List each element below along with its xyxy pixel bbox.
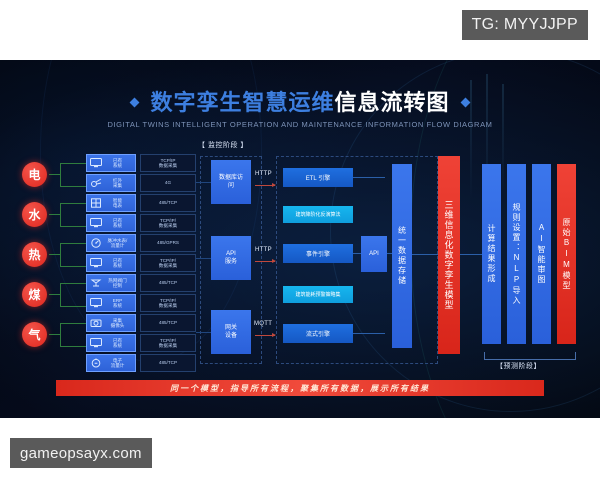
protocol-box: 485/TCP (140, 194, 196, 212)
engine-block-etl[interactable]: ETL 引擎 (283, 168, 353, 187)
output-block-rule-nlp[interactable]: 规则设置：NLP导入 (507, 164, 526, 344)
protocol-box: TCP/IP/数据采集 (140, 214, 196, 232)
connector-line (353, 253, 361, 254)
gauge-icon (89, 238, 102, 249)
title-secondary: 信息流转图 (335, 90, 450, 115)
connector-green (60, 283, 61, 307)
stage-label-monitor: 【 监控阶段 】 (198, 140, 248, 150)
page-subtitle: DIGITAL TWINS INTELLIGENT OPERATION AND … (0, 120, 600, 129)
device-label: 电子流量计 (102, 358, 133, 369)
engine-block-energy-policy[interactable]: 建筑能耗预警策略集 (283, 286, 353, 303)
engine-block-event[interactable]: 事件引擎 (283, 244, 353, 263)
diamond-icon (460, 98, 470, 108)
title-primary: 数字孪生智慧运维 (150, 90, 334, 115)
arrow-right (255, 185, 275, 186)
device-label: ERP系统 (102, 298, 133, 309)
poster-title-block: 数字孪生智慧运维信息流转图 DIGITAL TWINS INTELLIGENT … (0, 90, 600, 129)
connector-green (60, 323, 86, 324)
bottom-banner: 同一个模型，指导所有流程，聚集所有数据，展示所有结果 (56, 380, 544, 396)
device-label: 已有系统 (102, 338, 133, 349)
watermark-bottom: gameopsayx.com (10, 438, 152, 468)
camera-icon (89, 318, 102, 329)
device-box[interactable]: ERP系统 (86, 294, 136, 312)
api-block[interactable]: API (361, 236, 387, 272)
connector-green (60, 306, 86, 307)
connector-green (60, 243, 61, 267)
monitor-icon (89, 338, 102, 349)
monitor-icon (89, 298, 102, 309)
page-title: 数字孪生智慧运维信息流转图 (0, 90, 600, 116)
protocol-box: 485/GPRS (140, 234, 196, 252)
connector-green (60, 346, 86, 347)
infrared-icon (89, 178, 102, 189)
connector-green (60, 323, 61, 347)
protocol-box: TCP/IP/数据采集 (140, 254, 196, 272)
connector-green (60, 203, 61, 227)
connector-line (460, 254, 482, 255)
transport-label-http-1: HTTP (255, 171, 272, 177)
connector-line (412, 254, 438, 255)
arrow-right (255, 261, 275, 262)
arrow-right (255, 335, 275, 336)
connector-green (60, 226, 86, 227)
access-block-gateway[interactable]: 网关设备 (211, 310, 251, 354)
protocol-box: 4G (140, 174, 196, 192)
device-box[interactable]: 已有系统 (86, 154, 136, 172)
device-label: 热网阀门控制 (102, 278, 133, 289)
valve-icon (89, 278, 102, 289)
connector-green (60, 283, 86, 284)
connector-line (196, 332, 212, 333)
protocol-box: 485/TCP (140, 274, 196, 292)
device-box[interactable]: 电子流量计 (86, 354, 136, 372)
prediction-bracket (484, 352, 576, 360)
protocol-box: 485/TCP (140, 354, 196, 372)
stage-label-predict: 【预测阶段】 (496, 361, 541, 371)
device-box[interactable]: 红外采集 (86, 174, 136, 192)
device-box[interactable]: 已有系统 (86, 214, 136, 232)
source-node-water: 水 (22, 202, 47, 227)
output-block-result[interactable]: 计算结果形成 (482, 164, 501, 344)
device-box[interactable]: 已有系统 (86, 254, 136, 272)
source-node-gas: 气 (22, 322, 47, 347)
device-box[interactable]: 智能电表 (86, 194, 136, 212)
model-block[interactable]: 三维信息化数字孪生模型 (438, 156, 460, 354)
connector-green (60, 243, 86, 244)
connector-line (196, 182, 212, 183)
access-block-database[interactable]: 数据库访问 (211, 160, 251, 204)
diamond-icon (130, 98, 140, 108)
monitor-icon (89, 258, 102, 269)
source-node-electric: 电 (22, 162, 47, 187)
poster-canvas: 数字孪生智慧运维信息流转图 DIGITAL TWINS INTELLIGENT … (0, 60, 600, 418)
transport-label-mqtt: MQTT (254, 321, 272, 327)
protocol-box: TCP/IP/数据采集 (140, 294, 196, 312)
output-block-bim[interactable]: 原始BIM模型 (557, 164, 576, 344)
device-label: 已有系统 (102, 158, 133, 169)
connector-green (60, 186, 86, 187)
watermark-top: TG: MYYJJPP (462, 10, 588, 40)
monitor-icon (89, 218, 102, 229)
access-block-api-service[interactable]: API服务 (211, 236, 251, 280)
engine-block-reduced-order[interactable]: 建筑降阶化反演算法 (283, 206, 353, 223)
device-box[interactable]: 脉冲水表/流量计 (86, 234, 136, 252)
device-label: 智能电表 (102, 198, 133, 209)
protocol-box: TCP/IP数据采集 (140, 154, 196, 172)
connector-green (60, 163, 86, 164)
device-label: 已有系统 (102, 218, 133, 229)
device-label: 脉冲水表/流量计 (102, 238, 133, 249)
connector-line (196, 258, 212, 259)
connector-green (60, 266, 86, 267)
device-label: 已有系统 (102, 258, 133, 269)
transport-label-http-2: HTTP (255, 247, 272, 253)
engine-block-streaming[interactable]: 流式引擎 (283, 324, 353, 343)
monitor-icon (89, 158, 102, 169)
protocol-box: TCP/IP/数据采集 (140, 334, 196, 352)
meter-icon (89, 198, 102, 209)
device-box[interactable]: 热网阀门控制 (86, 274, 136, 292)
connector-green (60, 163, 61, 187)
output-block-ai-review[interactable]: AI智能审图 (532, 164, 551, 344)
connector-line (353, 177, 385, 178)
device-label: 采集摄像头 (102, 318, 133, 329)
device-box[interactable]: 采集摄像头 (86, 314, 136, 332)
source-node-coal: 煤 (22, 282, 47, 307)
storage-block[interactable]: 统一数据存储 (392, 164, 412, 348)
protocol-box: 485/TCP (140, 314, 196, 332)
device-box[interactable]: 已有系统 (86, 334, 136, 352)
source-node-heat: 热 (22, 242, 47, 267)
screenshot-root: TG: MYYJJPP gameopsayx.com 数字孪生智慧运维信息流转图… (0, 0, 600, 480)
flowmeter-icon (89, 358, 102, 369)
connector-line (353, 333, 385, 334)
connector-green (60, 203, 86, 204)
device-label: 红外采集 (102, 178, 133, 189)
